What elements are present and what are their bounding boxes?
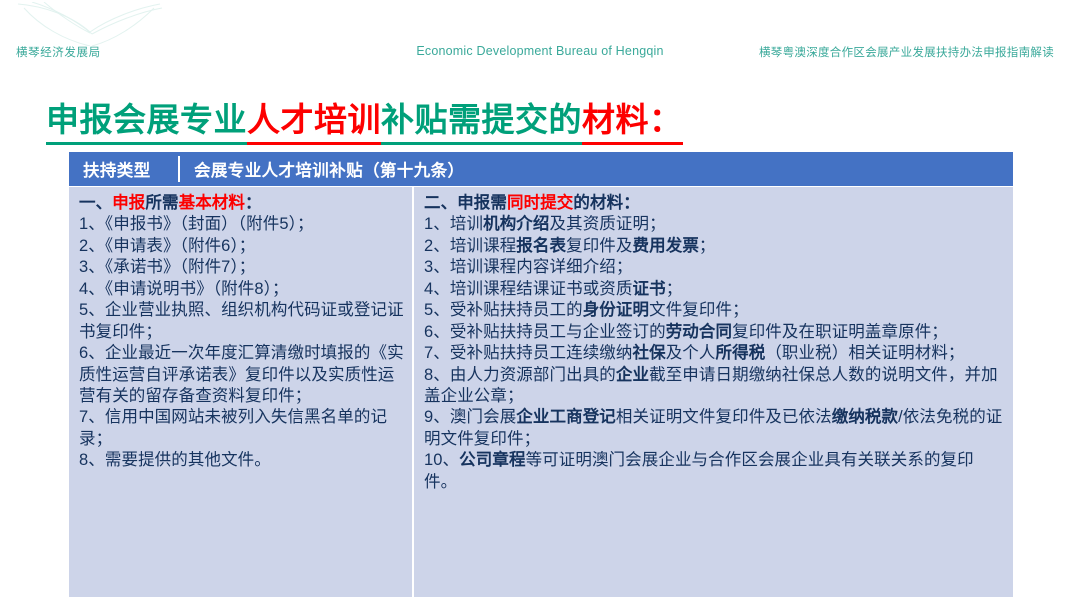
right-column-heading: 二、申报需同时提交的材料： bbox=[424, 193, 1005, 214]
emphasized-text: 社保 bbox=[633, 344, 666, 362]
emphasized-text: 企业 bbox=[616, 366, 649, 384]
list-item-text: 培训 bbox=[450, 215, 483, 233]
list-item-text: 受补贴扶持员工的 bbox=[450, 301, 583, 319]
list-item: 1、《申报书》（封面）（附件5）； bbox=[79, 214, 404, 235]
list-item-text: 澳门会展 bbox=[450, 408, 516, 426]
list-item: 6、企业最近一次年度汇算清缴时填报的《实质性运营自评承诺表》复印件以及实质性运营… bbox=[79, 343, 404, 407]
list-item-text: 培训课程内容详细介绍； bbox=[450, 258, 633, 276]
list-item: 3、培训课程内容详细介绍； bbox=[424, 257, 1005, 278]
materials-table: 扶持类型 会展专业人才培训补贴（第十九条） 一、申报所需基本材料： 1、《申报书… bbox=[69, 152, 1013, 597]
page-title: 申报会展专业人才培训补贴需提交的材料： bbox=[46, 101, 683, 145]
left-column-cell: 一、申报所需基本材料： 1、《申报书》（封面）（附件5）；2、《申请表》（附件6… bbox=[69, 187, 414, 597]
emphasized-text: 企业工商登记 bbox=[516, 408, 616, 426]
list-item-number: 6、 bbox=[424, 323, 450, 341]
emphasized-text: 所得税 bbox=[716, 344, 766, 362]
title-segment-4: 材料： bbox=[582, 101, 683, 145]
emphasized-text: 费用发票 bbox=[633, 237, 699, 255]
hengqin-logo-icon bbox=[14, 2, 164, 46]
list-item-text: 复印件及在职证明盖章原件； bbox=[732, 323, 948, 341]
table-body-row: 一、申报所需基本材料： 1、《申报书》（封面）（附件5）；2、《申请表》（附件6… bbox=[69, 187, 1013, 597]
list-item-text: 及其资质证明； bbox=[550, 215, 666, 233]
list-item: 4、《申请说明书》（附件8）； bbox=[79, 279, 404, 300]
list-item: 8、需要提供的其他文件。 bbox=[79, 450, 404, 471]
header-right-title: 横琴粤澳深度合作区会展产业发展扶持办法申报指南解读 bbox=[759, 44, 1054, 60]
right-column-cell: 二、申报需同时提交的材料： 1、培训机构介绍及其资质证明；2、培训课程报名表复印… bbox=[414, 187, 1013, 597]
list-item: 5、企业营业执照、组织机构代码证或登记证书复印件； bbox=[79, 300, 404, 343]
list-item-number: 7、 bbox=[424, 344, 450, 362]
list-item-text: 复印件及 bbox=[566, 237, 632, 255]
list-item-text: 受补贴扶持员工与企业签订的 bbox=[450, 323, 666, 341]
list-item: 3、《承诺书》（附件7）； bbox=[79, 257, 404, 278]
emphasized-text: 缴纳税款 bbox=[832, 408, 898, 426]
title-segment-1: 申报会展专业 bbox=[46, 101, 247, 145]
list-item: 8、由人力资源部门出具的企业截至申请日期缴纳社保总人数的说明文件，并加盖企业公章… bbox=[424, 365, 1005, 408]
list-item-text: 受补贴扶持员工连续缴纳 bbox=[450, 344, 633, 362]
title-segment-3: 补贴需提交的 bbox=[381, 101, 582, 145]
emphasized-text: 机构介绍 bbox=[483, 215, 549, 233]
left-column-items: 1、《申报书》（封面）（附件5）；2、《申请表》（附件6）；3、《承诺书》（附件… bbox=[79, 214, 404, 471]
list-item: 7、受补贴扶持员工连续缴纳社保及个人所得税（职业税）相关证明材料； bbox=[424, 343, 1005, 364]
list-item-text: 相关证明文件复印件及已依法 bbox=[616, 408, 832, 426]
list-item-number: 8、 bbox=[424, 366, 450, 384]
list-item: 2、培训课程报名表复印件及费用发票； bbox=[424, 236, 1005, 257]
list-item-number: 4、 bbox=[424, 280, 450, 298]
table-header-name: 会展专业人才培训补贴（第十九条） bbox=[180, 157, 1013, 181]
emphasized-text: 公司章程 bbox=[459, 451, 525, 469]
list-item-number: 10、 bbox=[424, 451, 459, 469]
list-item-number: 9、 bbox=[424, 408, 450, 426]
list-item-number: 5、 bbox=[424, 301, 450, 319]
list-item-text: 培训课程 bbox=[450, 237, 516, 255]
list-item: 4、培训课程结课证书或资质证书； bbox=[424, 279, 1005, 300]
emphasized-text: 报名表 bbox=[516, 237, 566, 255]
left-column-heading: 一、申报所需基本材料： bbox=[79, 193, 404, 214]
list-item-text: ； bbox=[666, 280, 683, 298]
list-item-text: （职业税）相关证明材料； bbox=[765, 344, 964, 362]
list-item: 9、澳门会展企业工商登记相关证明文件复印件及已依法缴纳税款/依法免税的证明文件复… bbox=[424, 407, 1005, 450]
emphasized-text: 证书 bbox=[633, 280, 666, 298]
emphasized-text: 身份证明 bbox=[583, 301, 649, 319]
list-item: 7、信用中国网站未被列入失信黑名单的记录； bbox=[79, 407, 404, 450]
list-item: 5、受补贴扶持员工的身份证明文件复印件； bbox=[424, 300, 1005, 321]
table-header-type: 扶持类型 bbox=[69, 157, 178, 181]
title-segment-2: 人才培训 bbox=[247, 101, 381, 145]
list-item-text: ； bbox=[699, 237, 716, 255]
list-item: 2、《申请表》（附件6）； bbox=[79, 236, 404, 257]
list-item-text: 培训课程结课证书或资质 bbox=[450, 280, 633, 298]
list-item: 10、公司章程等可证明澳门会展企业与合作区会展企业具有关联关系的复印件。 bbox=[424, 450, 1005, 493]
list-item: 1、培训机构介绍及其资质证明； bbox=[424, 214, 1005, 235]
list-item-number: 1、 bbox=[424, 215, 450, 233]
table-header-row: 扶持类型 会展专业人才培训补贴（第十九条） bbox=[69, 152, 1013, 187]
list-item-text: 由人力资源部门出具的 bbox=[450, 366, 616, 384]
page-header: 横琴经济发展局 Economic Development Bureau of H… bbox=[0, 0, 1080, 72]
list-item-text: 及个人 bbox=[666, 344, 716, 362]
list-item-number: 2、 bbox=[424, 237, 450, 255]
list-item-number: 3、 bbox=[424, 258, 450, 276]
emphasized-text: 劳动合同 bbox=[666, 323, 732, 341]
list-item: 6、受补贴扶持员工与企业签订的劳动合同复印件及在职证明盖章原件； bbox=[424, 322, 1005, 343]
list-item-text: 文件复印件； bbox=[649, 301, 749, 319]
right-column-items: 1、培训机构介绍及其资质证明；2、培训课程报名表复印件及费用发票；3、培训课程内… bbox=[424, 214, 1005, 493]
